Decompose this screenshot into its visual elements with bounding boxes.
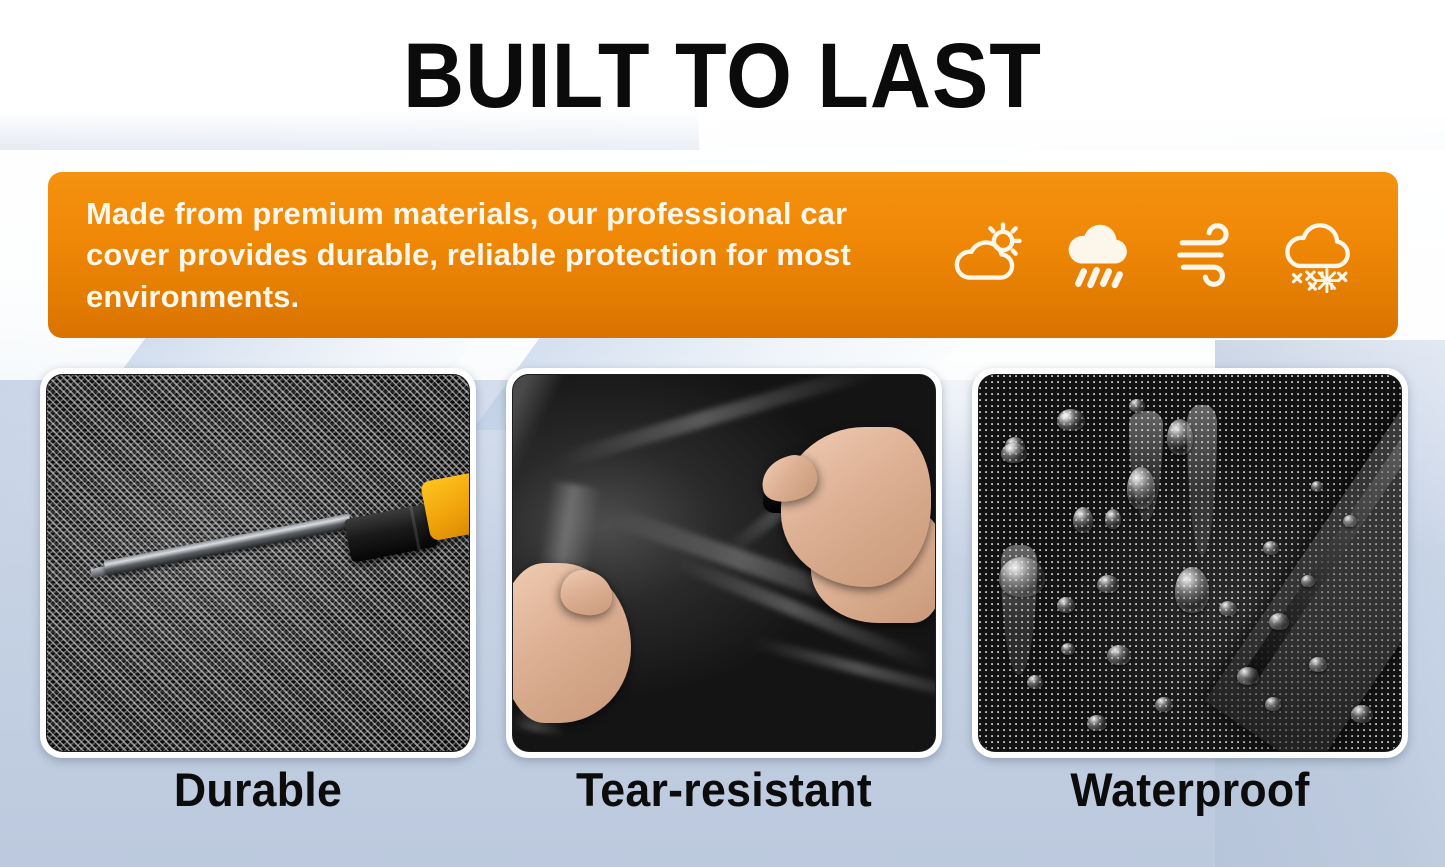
water-droplet: [999, 557, 1045, 597]
built-to-last-infographic: BUILT TO LAST Made from premium material…: [0, 0, 1445, 867]
description-banner: Made from premium materials, our profess…: [48, 172, 1398, 338]
water-droplet: [1027, 675, 1043, 689]
water-droplet: [1097, 575, 1119, 593]
water-droplet: [1269, 613, 1289, 630]
caption-waterproof: Waterproof: [983, 762, 1397, 817]
caption-durable: Durable: [51, 762, 465, 817]
water-droplet: [1309, 657, 1327, 672]
feature-panel-tear-resistant: [506, 368, 942, 758]
water-droplet: [1057, 409, 1085, 431]
weather-icon-row: [928, 216, 1398, 294]
water-droplet: [1301, 575, 1315, 587]
sun-behind-cloud-icon: [950, 216, 1028, 294]
waterproof-fabric-photo: [978, 374, 1402, 752]
water-droplet: [1351, 705, 1373, 723]
water-droplet: [1087, 715, 1107, 731]
water-droplet: [1127, 467, 1155, 509]
caption-tear-resistant: Tear-resistant: [517, 762, 931, 817]
water-droplet: [1107, 645, 1131, 665]
rain-cloud-icon: [1060, 216, 1138, 294]
durable-fabric-photo: [46, 374, 470, 752]
water-droplet: [1061, 643, 1075, 655]
water-droplet: [1237, 667, 1259, 685]
wind-icon: [1170, 216, 1248, 294]
water-droplet: [1175, 567, 1209, 613]
right-hand: [781, 427, 931, 587]
water-droplet: [1001, 443, 1027, 463]
feature-panel-row: [40, 368, 1408, 758]
water-droplet: [1129, 399, 1145, 412]
banner-description-text: Made from premium materials, our profess…: [48, 193, 928, 317]
water-droplet: [1057, 597, 1075, 613]
water-droplet: [1343, 515, 1357, 527]
water-droplet: [1263, 541, 1279, 555]
feature-panel-waterproof: [972, 368, 1408, 758]
water-droplet: [1167, 419, 1193, 455]
tear-resistant-fabric-photo: [512, 374, 936, 752]
water-droplet: [1219, 601, 1237, 616]
water-droplet: [1311, 481, 1323, 492]
water-droplet: [1105, 509, 1121, 529]
water-droplet: [1155, 697, 1173, 712]
water-droplet: [1265, 697, 1281, 711]
page-title: BUILT TO LAST: [58, 28, 1387, 125]
snow-cloud-icon: [1280, 216, 1358, 294]
feature-caption-row: Durable Tear-resistant Waterproof: [40, 762, 1408, 817]
water-droplet: [1073, 507, 1093, 533]
feature-panel-durable: [40, 368, 476, 758]
